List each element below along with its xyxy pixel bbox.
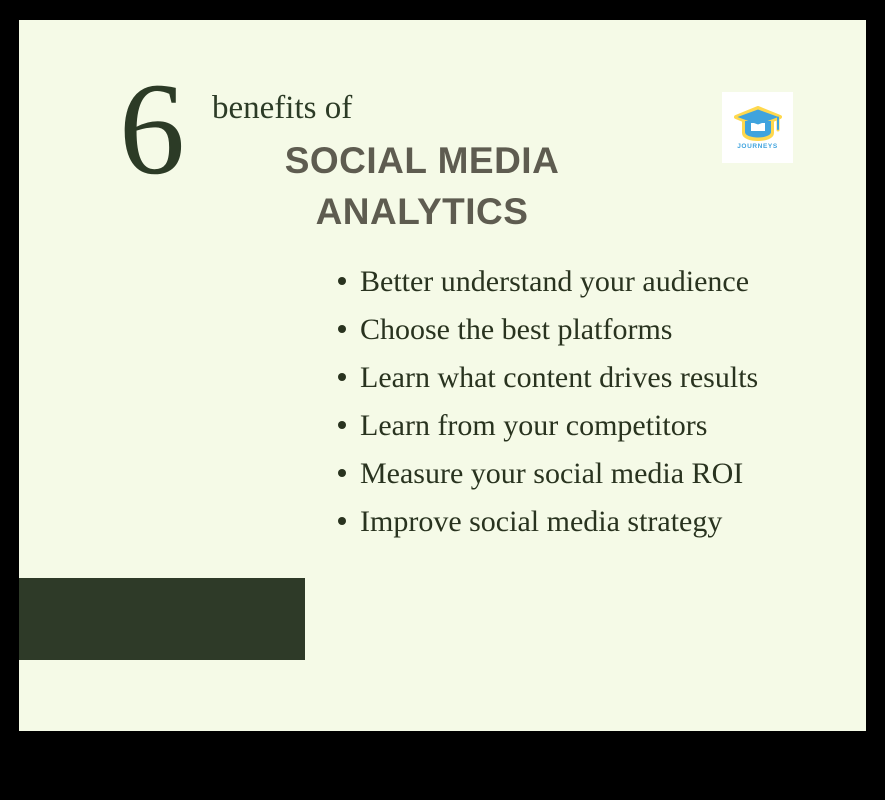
list-item: Improve social media strategy (338, 498, 838, 546)
brand-logo-badge: JOURNEYS (722, 92, 793, 163)
list-item: Learn from your competitors (338, 402, 838, 450)
list-item-label: Better understand your audience (360, 265, 749, 298)
bullet-icon (338, 373, 346, 381)
list-item-label: Measure your social media ROI (360, 457, 743, 490)
headline-lead-in: benefits of (212, 90, 352, 128)
poster-canvas: 6 benefits of SOCIAL MEDIA ANALYTICS (19, 20, 866, 731)
list-item-label: Improve social media strategy (360, 505, 722, 538)
bullet-icon (338, 277, 346, 285)
list-item-label: Choose the best platforms (360, 313, 672, 346)
list-item: Learn what content drives results (338, 354, 838, 402)
bullet-icon (338, 469, 346, 477)
headline-line-1: SOCIAL MEDIA (212, 135, 632, 186)
list-item: Choose the best platforms (338, 306, 838, 354)
benefit-count-numeral: 6 (119, 63, 183, 195)
benefits-list: Better understand your audience Choose t… (338, 258, 838, 546)
poster-frame: 6 benefits of SOCIAL MEDIA ANALYTICS (0, 0, 885, 800)
list-item-label: Learn what content drives results (360, 361, 758, 394)
headline-line-2: ANALYTICS (212, 186, 632, 237)
bullet-icon (338, 517, 346, 525)
header-block: 6 benefits of SOCIAL MEDIA ANALYTICS (19, 20, 866, 250)
bullet-icon (338, 325, 346, 333)
list-item-label: Learn from your competitors (360, 409, 707, 442)
brand-wordmark: JOURNEYS (737, 143, 778, 150)
page-title: SOCIAL MEDIA ANALYTICS (212, 135, 632, 237)
list-item: Better understand your audience (338, 258, 838, 306)
decorative-accent-bar (19, 578, 305, 660)
graduation-cap-icon (734, 106, 782, 142)
bullet-icon (338, 421, 346, 429)
list-item: Measure your social media ROI (338, 450, 838, 498)
